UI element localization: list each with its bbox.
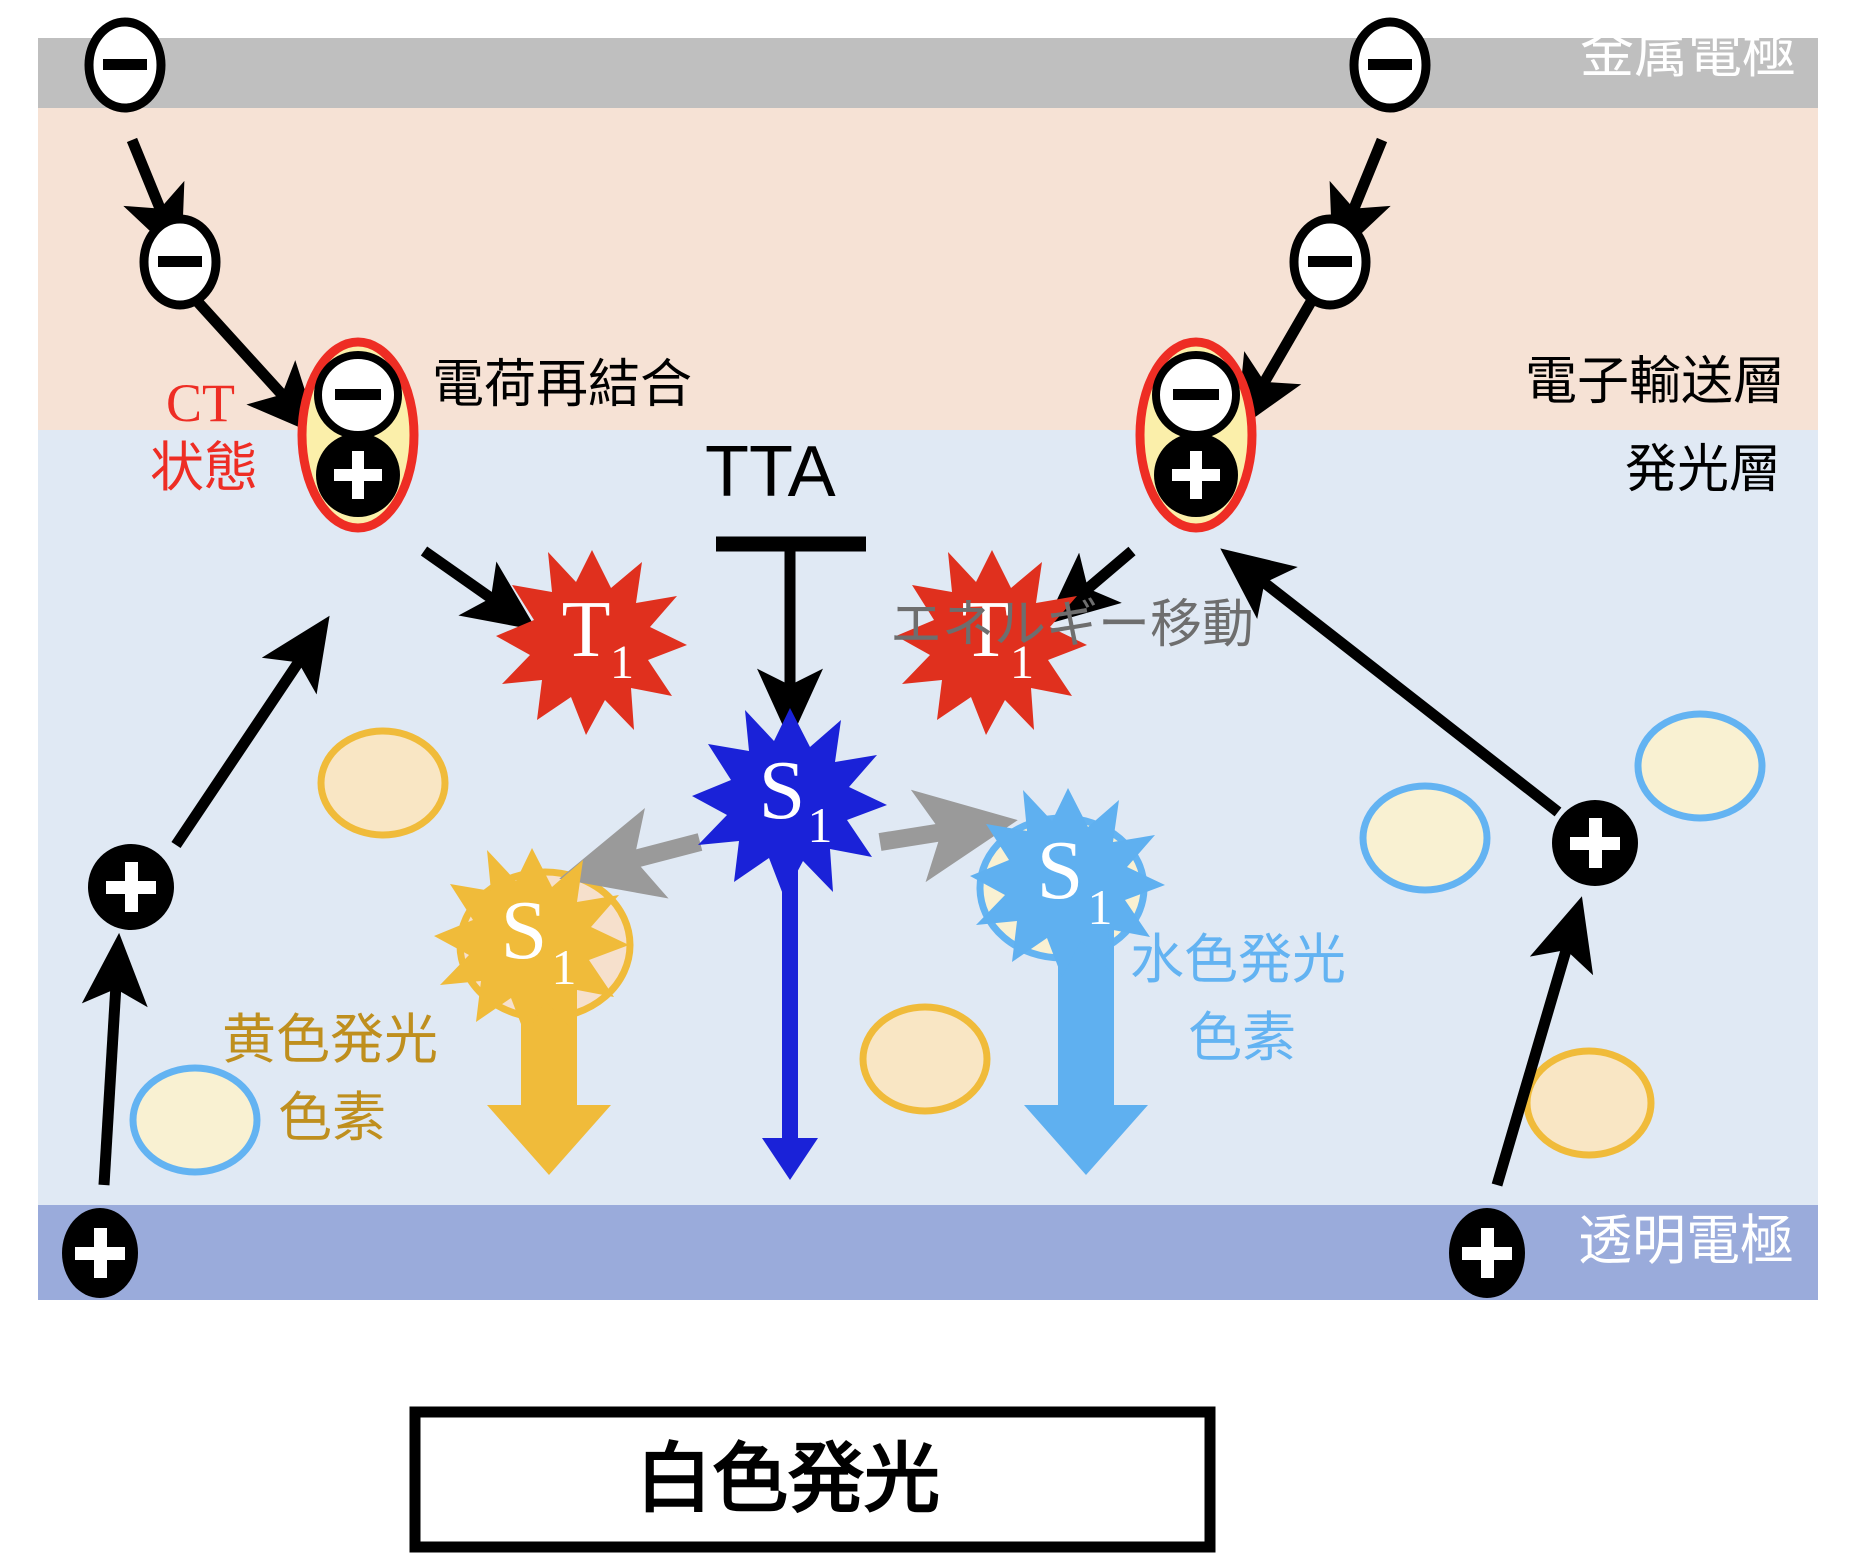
yellow-dye-label-line1: 黄色発光 [222,1012,438,1069]
hole-right-anode [1449,1208,1525,1298]
ct-pair-right [1140,342,1252,528]
svg-text:T: T [562,586,611,674]
energy-transfer-label: エネルギー移動 [890,598,1254,653]
layer-label-emissive: 発光層 [1625,443,1781,498]
electron-top-right [1354,22,1426,108]
white-emission-label: 白色発光 [636,1440,940,1520]
dye-yellow-1 [321,731,445,835]
ct-state-label-line1: CT [166,375,235,432]
cyan-dye-label-line2: 色素 [1188,1010,1296,1067]
hole-left-anode [62,1208,138,1298]
diagram-svg: T 1 T 1 S 1 S 1 S 1 [0,0,1856,1564]
yellow-dye-label-line2: 色素 [278,1090,386,1147]
svg-text:S: S [1037,824,1084,917]
cyan-dye-label-line1: 水色発光 [1130,932,1346,989]
dye-yellow-3 [1527,1051,1651,1155]
dye-cyan-2 [1363,786,1487,890]
hole-left-mid [88,844,174,930]
ct-state-label-line2: 状態 [150,440,258,497]
layer-label-electron-transport: 電子輸送層 [1525,355,1785,410]
electron-mid-right [1294,219,1366,305]
svg-text:S: S [501,884,548,977]
dye-yellow-2 [863,1007,987,1111]
hole-right-mid [1552,800,1638,886]
layer-band-metal-electrode [38,38,1818,108]
dye-cyan-3 [1638,714,1762,818]
layer-label-metal-electrode: 金属電極 [1580,26,1796,83]
dye-cyan-1 [133,1068,257,1172]
layer-label-transparent-electrode: 透明電極 [1578,1213,1794,1270]
ct-pair-left [302,342,414,528]
charge-recombination-label: 電荷再結合 [432,358,692,413]
svg-text:1: 1 [1088,879,1113,935]
svg-text:1: 1 [808,797,833,853]
layer-band-transparent-electrode [38,1205,1818,1300]
svg-text:1: 1 [552,939,577,995]
electron-top-left [89,22,161,108]
svg-text:S: S [759,744,806,837]
svg-text:1: 1 [610,636,634,689]
electron-mid-left [144,219,216,305]
tta-label: TTA [705,435,836,511]
diagram-canvas: T 1 T 1 S 1 S 1 S 1 [0,0,1856,1564]
